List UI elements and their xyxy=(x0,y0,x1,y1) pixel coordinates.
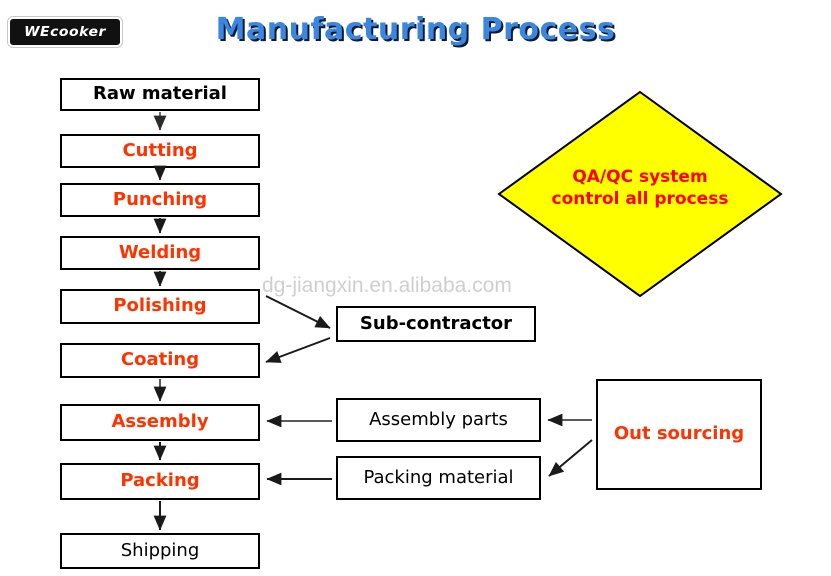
process-box-shipping[interactable]: Shipping xyxy=(60,533,260,569)
arrow-polishing-to-sub-contractor xyxy=(266,296,330,328)
process-label-shipping: Shipping xyxy=(62,541,258,562)
process-label-welding: Welding xyxy=(62,243,258,264)
process-label-packing-material: Packing material xyxy=(338,468,539,489)
process-box-welding[interactable]: Welding xyxy=(60,236,260,270)
process-label-out-sourcing: Out sourcing xyxy=(598,424,760,445)
arrow-sub-contractor-to-coating xyxy=(266,338,330,362)
qa-qc-diamond[interactable]: QA/QC system control all process xyxy=(497,90,783,298)
process-box-punching[interactable]: Punching xyxy=(60,183,260,217)
process-label-sub-contractor: Sub-contractor xyxy=(338,314,534,335)
process-box-assembly[interactable]: Assembly xyxy=(60,404,260,441)
process-box-sub-contractor[interactable]: Sub-contractor xyxy=(336,306,536,342)
process-box-polishing[interactable]: Polishing xyxy=(60,289,260,324)
page-title: Manufacturing Process xyxy=(0,12,831,47)
process-label-polishing: Polishing xyxy=(62,296,258,317)
process-label-punching: Punching xyxy=(62,190,258,211)
process-box-assembly-parts[interactable]: Assembly parts xyxy=(336,398,541,442)
process-box-cutting[interactable]: Cutting xyxy=(60,134,260,168)
process-box-raw-material[interactable]: Raw material xyxy=(60,78,260,111)
process-label-packing: Packing xyxy=(62,471,258,492)
diamond-shape-icon xyxy=(497,90,783,298)
process-box-packing[interactable]: Packing xyxy=(60,463,260,500)
arrow-out-sourcing-to-packing-material xyxy=(549,440,592,476)
process-box-packing-material[interactable]: Packing material xyxy=(336,456,541,500)
process-label-cutting: Cutting xyxy=(62,141,258,162)
manufacturing-process-diagram: WEcooker Manufacturing Process dg-jiangx… xyxy=(0,0,831,576)
process-label-raw-material: Raw material xyxy=(62,84,258,105)
watermark: dg-jiangxin.en.alibaba.com xyxy=(262,274,512,298)
process-label-assembly-parts: Assembly parts xyxy=(338,410,539,431)
process-box-coating[interactable]: Coating xyxy=(60,343,260,378)
process-label-coating: Coating xyxy=(62,350,258,371)
process-box-out-sourcing[interactable]: Out sourcing xyxy=(596,379,762,490)
process-label-assembly: Assembly xyxy=(62,412,258,433)
